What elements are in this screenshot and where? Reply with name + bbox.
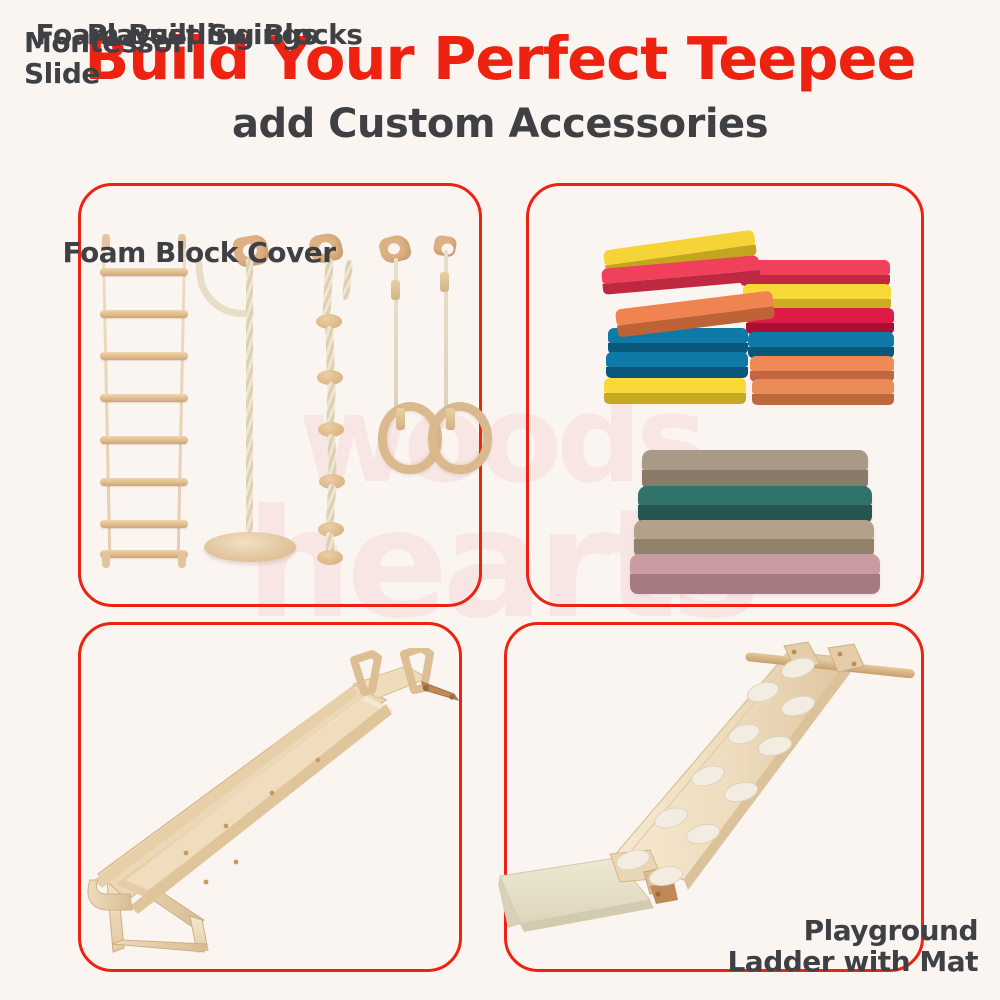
- page-subtitle: add Custom Accessories: [0, 102, 1000, 146]
- foam-block-cover-image: [620, 450, 890, 595]
- montessori-slide-image: [86, 648, 462, 968]
- rope-ladder-image: [96, 232, 192, 562]
- knotted-climbing-rope-image: [300, 234, 374, 564]
- gymnastic-rings-image: [378, 236, 486, 496]
- card-title-line-2: Ladder with Mat: [658, 947, 978, 978]
- card-title-line-1: Playground: [658, 916, 978, 947]
- card-title-playground-ladder-with-mat: Playground Ladder with Mat: [658, 916, 978, 978]
- card-title-foam-block-cover: Foam Block Cover: [0, 238, 398, 269]
- card-title-line-2: Slide: [24, 59, 284, 90]
- card-title-montessori-slide: Montessori Slide: [24, 28, 284, 90]
- disc-swing-image: [192, 236, 300, 576]
- foam-building-blocks-image: [600, 238, 900, 408]
- card-title-line-1: Montessori: [24, 28, 284, 59]
- promo-banner: woods hearts Build Your Perfect Teepee a…: [0, 0, 1000, 1000]
- playground-ladder-with-mat-image: [498, 628, 928, 958]
